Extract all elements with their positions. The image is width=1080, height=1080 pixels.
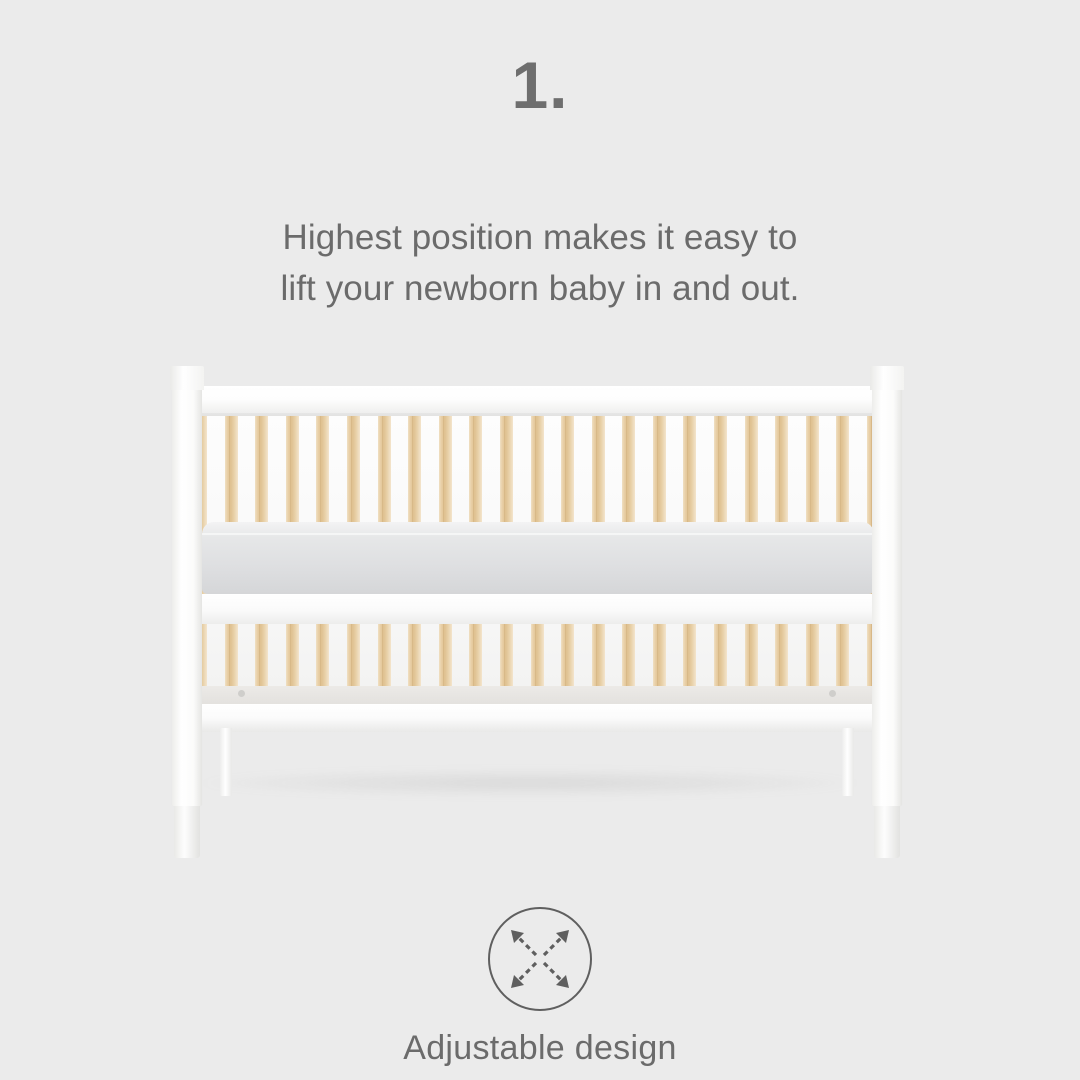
headline-text: Highest position makes it easy to lift y…: [0, 212, 1080, 315]
infographic-slide: 1. Highest position makes it easy to lif…: [0, 0, 1080, 1080]
crib-lower-skirt: [196, 686, 880, 705]
badge-label: Adjustable design: [403, 1031, 677, 1065]
crib-post-cap-right: [870, 366, 904, 390]
crib-foot-left: [174, 806, 200, 858]
feature-badge: Adjustable design: [0, 905, 1080, 1065]
crib-corner-post-right: [872, 368, 902, 806]
crib-foot-right: [874, 806, 900, 858]
crib-illustration: [172, 360, 902, 840]
crib-support-board: [196, 594, 880, 624]
crib-corner-post-left: [172, 368, 202, 806]
product-photo: [0, 330, 1080, 870]
crib-screw-cap: [238, 690, 245, 697]
crib-mattress: [202, 522, 874, 594]
four-way-expand-arrows-icon: [486, 905, 594, 1013]
crib-leg-left: [220, 728, 232, 796]
crib-leg-right: [842, 728, 854, 796]
crib-top-rail: [188, 386, 886, 416]
crib-bottom-rail: [186, 704, 888, 732]
crib-post-cap-left: [170, 366, 204, 390]
crib-screw-cap: [829, 690, 836, 697]
step-number: 1.: [0, 52, 1080, 118]
